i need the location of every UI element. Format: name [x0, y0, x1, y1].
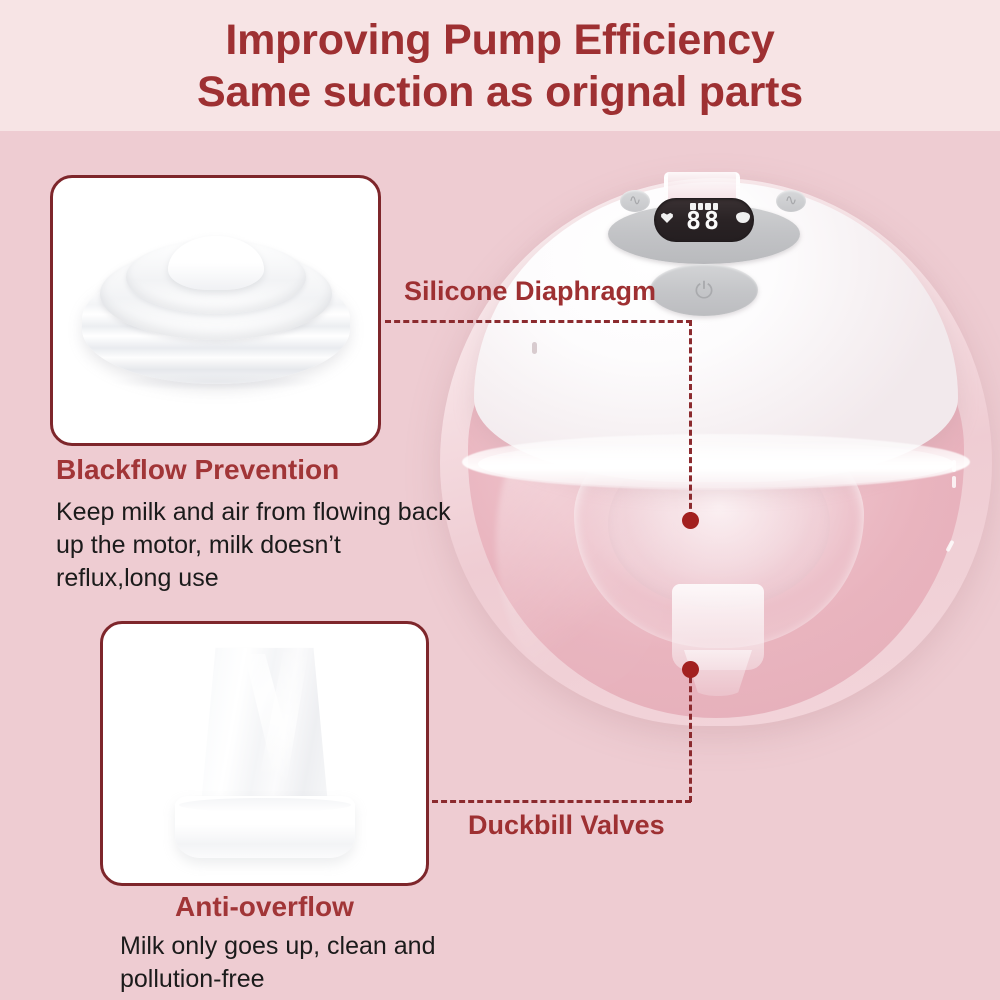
- feature-body-anti-overflow: Milk only goes up, clean and pollution-f…: [120, 930, 540, 996]
- feature-card-duckbill-valve: [100, 621, 429, 886]
- duckbill-base-lip: [179, 798, 351, 812]
- callout-dot-diaphragm: [682, 512, 699, 529]
- feature-heading-blackflow-prevention: Blackflow Prevention: [56, 456, 339, 484]
- pump-rim-band: [462, 434, 970, 490]
- feature-body-blackflow-prevention: Keep milk and air from flowing back up t…: [56, 496, 456, 595]
- header-title-line-2: Same suction as orignal parts: [0, 71, 1000, 114]
- duckbill-valve-image: [103, 624, 426, 883]
- leader-line-diaphragm-vertical: [689, 320, 692, 518]
- pump-vent-slit: [952, 476, 956, 488]
- callout-dot-duckbill: [682, 661, 699, 678]
- suction-down-icon: ∿: [620, 190, 650, 212]
- feature-heading-anti-overflow: Anti-overflow: [100, 893, 429, 921]
- callout-label-silicone-diaphragm: Silicone Diaphragm: [404, 278, 656, 305]
- suction-up-icon: ∿: [776, 190, 806, 212]
- leader-line-duckbill-vertical: [689, 668, 692, 802]
- leader-line-diaphragm-horizontal: [385, 320, 692, 323]
- diaphragm-shadow: [112, 374, 320, 390]
- breast-pump-device: ∿ ∿ 88 ⏻: [432, 172, 1000, 732]
- power-icon: ⏻: [650, 264, 758, 316]
- infographic-page: Improving Pump Efficiency Same suction a…: [0, 0, 1000, 1000]
- callout-label-duckbill-valves: Duckbill Valves: [468, 812, 665, 839]
- leader-line-duckbill-horizontal: [432, 800, 691, 803]
- feature-card-silicone-diaphragm: [50, 175, 381, 446]
- pump-air-hole: [532, 342, 537, 354]
- lcd-level-value: 88: [670, 208, 738, 233]
- pump-vent-slit: [952, 460, 956, 472]
- silicone-diaphragm-image: [53, 178, 378, 443]
- header-title-line-1: Improving Pump Efficiency: [0, 19, 1000, 62]
